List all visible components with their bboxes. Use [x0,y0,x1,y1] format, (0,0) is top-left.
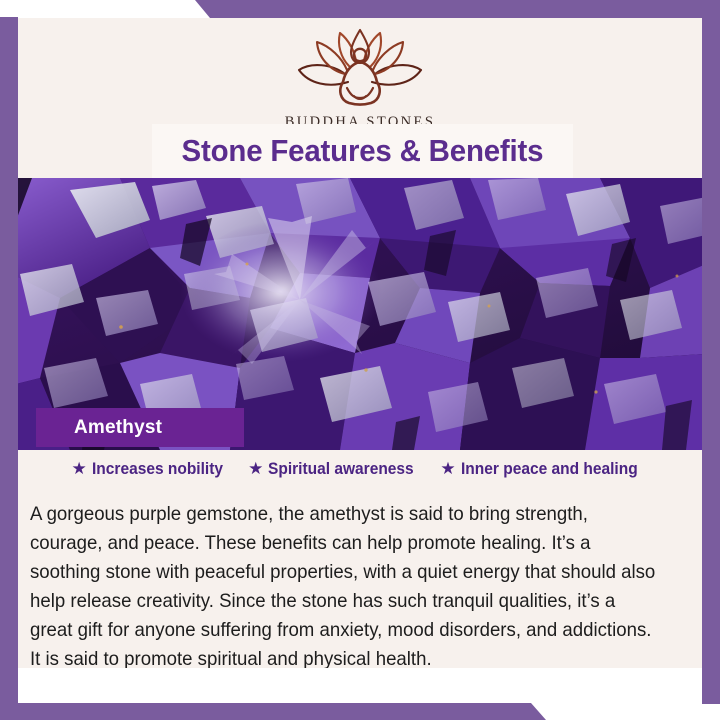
stone-description: A gorgeous purple gemstone, the amethyst… [30,500,662,674]
stone-name-tag: Amethyst [36,408,244,447]
star-icon: ★ [71,460,86,477]
frame-band-top [195,0,720,18]
benefit-label: Inner peace and healing [461,460,638,479]
title-banner: Stone Features & Benefits [152,124,573,178]
benefit-item: ★ Inner peace and healing [440,460,648,479]
page-title: Stone Features & Benefits [182,133,544,169]
frame-band-left [0,17,18,720]
frame-band-bottom [0,703,546,720]
benefit-item: ★ Increases nobility [71,460,231,479]
frame-band-right [702,0,720,704]
content-canvas: BUDDHA STONES Stone Features & Benefits [18,18,702,702]
brand-logo-block: BUDDHA STONES [18,26,702,131]
star-icon: ★ [440,460,455,477]
benefits-row: ★ Increases nobility ★ Spiritual awarene… [18,460,702,479]
benefit-label: Spiritual awareness [268,460,414,479]
benefit-item: ★ Spiritual awareness [248,460,423,479]
lotus-meditation-icon [285,26,435,112]
bottom-plate [18,668,702,703]
infographic-page: BUDDHA STONES Stone Features & Benefits [0,0,720,720]
benefit-label: Increases nobility [92,460,223,479]
header: BUDDHA STONES Stone Features & Benefits [18,18,702,178]
star-icon: ★ [248,460,263,477]
stone-name-label: Amethyst [36,417,162,439]
